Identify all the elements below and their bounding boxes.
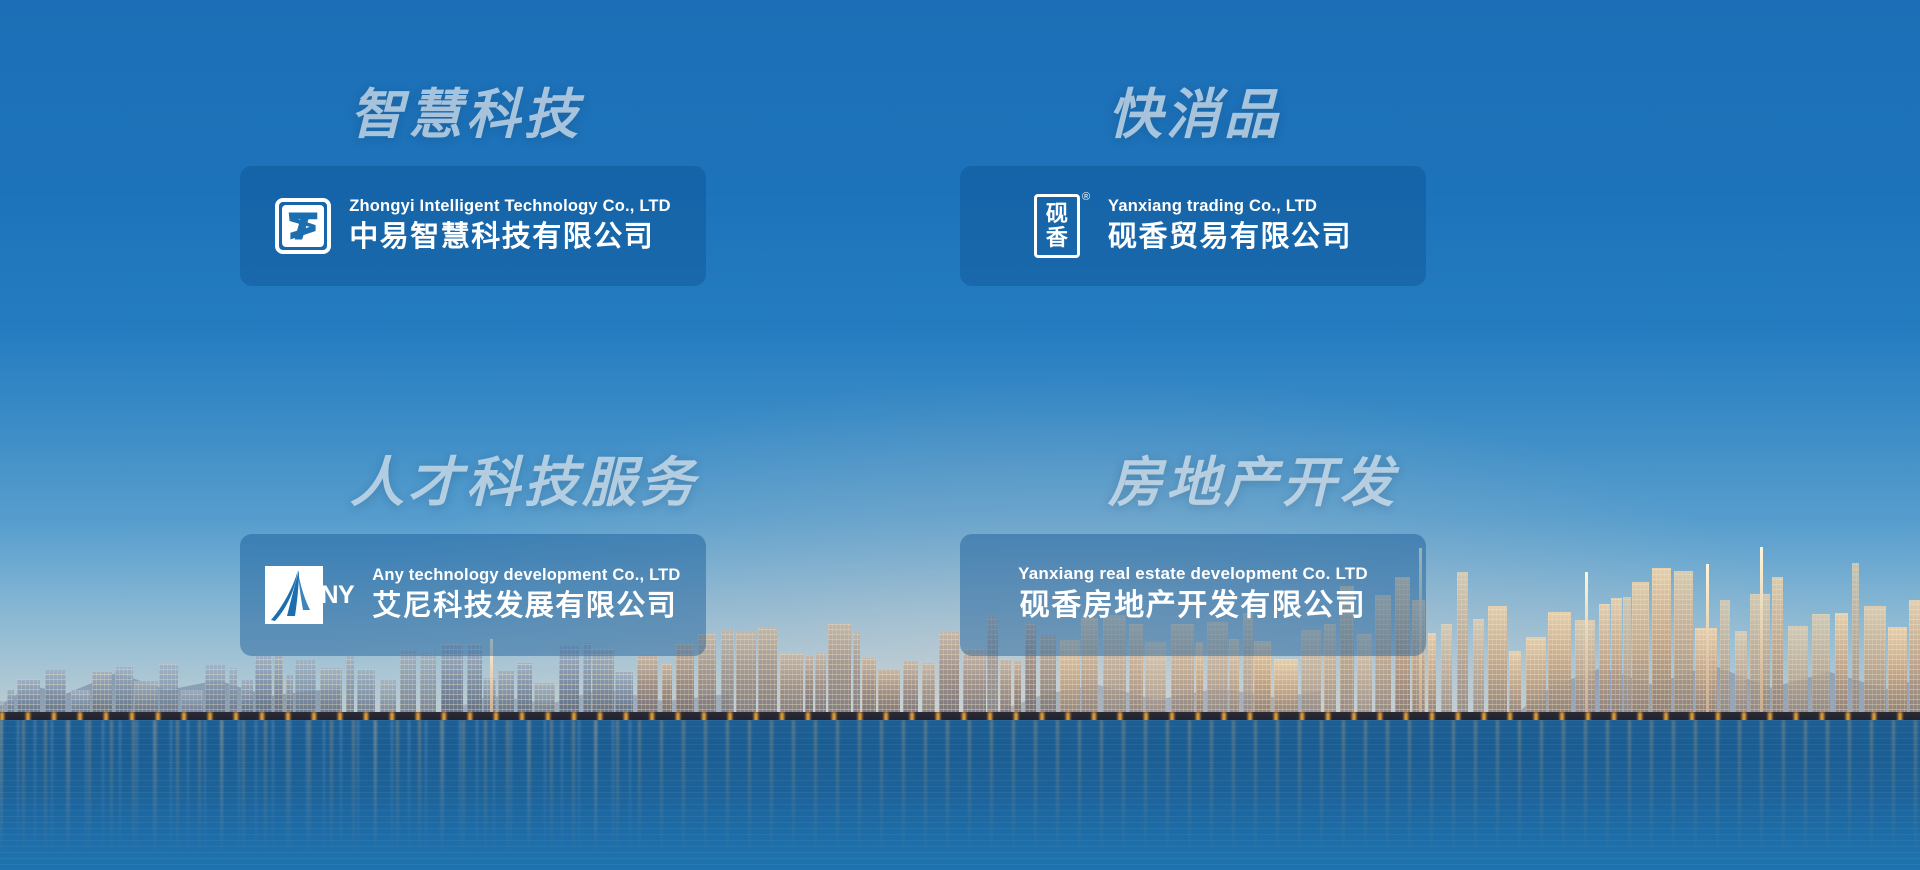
zhongyi-logo <box>275 198 331 254</box>
any-logo: NY <box>265 566 354 624</box>
company-name-cn: 中易智慧科技有限公司 <box>349 218 671 257</box>
company-card-yanxiang-trading[interactable]: 砚 香 ® Yanxiang trading Co., LTD 砚香贸易有限公司 <box>960 166 1426 286</box>
any-logo-text: NY <box>320 581 354 610</box>
zhongyi-z-stamp-icon <box>275 198 331 254</box>
company-name-cn: 艾尼科技发展有限公司 <box>372 587 680 626</box>
sector-block-real-estate: 房地产开发 Yanxiang real estate development C… <box>960 440 1680 810</box>
company-card-yanxiang-real-estate[interactable]: Yanxiang real estate development Co. LTD… <box>960 534 1426 656</box>
yanxiang-seal-icon: 砚 香 <box>1034 194 1080 258</box>
any-mountain-glyph <box>265 566 323 624</box>
company-name-cn: 砚香贸易有限公司 <box>1108 218 1352 257</box>
page-background: 智慧科技 Zhongyi Intelligent Technology Co.,… <box>0 0 1920 870</box>
sector-block-smart-technology: 智慧科技 Zhongyi Intelligent Technology Co.,… <box>240 70 960 440</box>
company-name-en: Yanxiang real estate development Co. LTD <box>1018 563 1368 586</box>
company-name-en: Any technology development Co., LTD <box>372 564 680 586</box>
sector-heading-fmcg: 快消品 <box>1108 88 1680 142</box>
company-card-any-technology[interactable]: NY Any technology development Co., LTD 艾… <box>240 534 706 656</box>
company-name-en: Yanxiang trading Co., LTD <box>1108 195 1352 217</box>
yanxiang-real-estate-card-text: Yanxiang real estate development Co. LTD… <box>1018 563 1368 626</box>
sector-heading-smart-technology: 智慧科技 <box>350 88 960 142</box>
yanxiang-logo: 砚 香 ® <box>1034 194 1090 258</box>
seal-char-bottom: 香 <box>1046 227 1068 249</box>
company-name-en: Zhongyi Intelligent Technology Co., LTD <box>349 195 671 217</box>
zhongyi-card-text: Zhongyi Intelligent Technology Co., LTD … <box>349 195 671 256</box>
seal-char-top: 砚 <box>1046 203 1068 225</box>
company-card-zhongyi[interactable]: Zhongyi Intelligent Technology Co., LTD … <box>240 166 706 286</box>
sector-block-fmcg: 快消品 砚 香 ® Yanxiang trading Co., LTD 砚香贸易… <box>960 70 1680 440</box>
sector-heading-talent-services: 人才科技服务 <box>350 456 960 510</box>
yanxiang-card-text: Yanxiang trading Co., LTD 砚香贸易有限公司 <box>1108 195 1352 256</box>
any-card-text: Any technology development Co., LTD 艾尼科技… <box>372 564 680 625</box>
sector-heading-real-estate: 房地产开发 <box>1108 456 1680 510</box>
sector-block-talent-services: 人才科技服务 NY Any technology development Co.… <box>240 440 960 810</box>
business-sectors-grid: 智慧科技 Zhongyi Intelligent Technology Co.,… <box>0 0 1920 870</box>
any-mountain-icon <box>265 566 323 624</box>
registered-trademark-icon: ® <box>1082 192 1090 203</box>
zhongyi-z-glyph <box>282 205 324 247</box>
company-name-cn: 砚香房地产开发有限公司 <box>1020 586 1367 627</box>
